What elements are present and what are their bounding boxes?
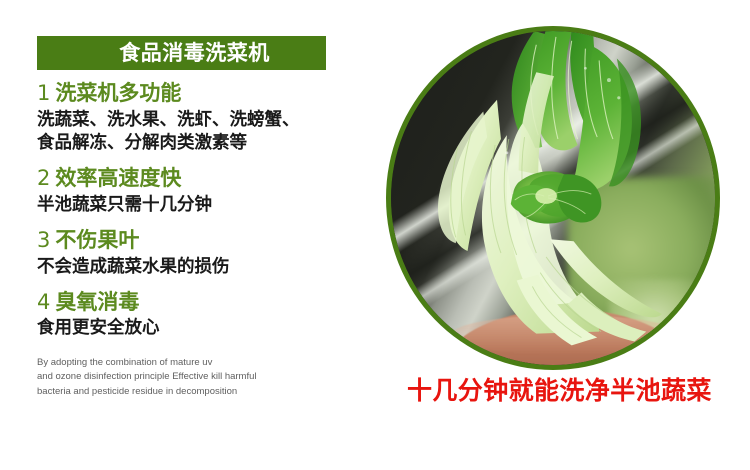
- feature-heading: 4臭氧消毒: [37, 290, 337, 315]
- feature-body: 半池蔬菜只需十几分钟: [37, 194, 337, 217]
- feature-heading: 1洗菜机多功能: [37, 81, 337, 106]
- feature-body: 洗蔬菜、洗水果、洗虾、洗螃蟹、 食品解冻、分解肉类激素等: [37, 109, 337, 155]
- feature-heading-label: 臭氧消毒: [55, 290, 139, 314]
- feature-body: 不会造成蔬菜水果的损伤: [37, 256, 337, 279]
- feature-heading-label: 不伤果叶: [55, 228, 139, 252]
- feature-body-line: 食品解冻、分解肉类激素等: [37, 132, 337, 155]
- feature-body-line: 食用更安全放心: [37, 317, 337, 340]
- feature-text-column: 食品消毒洗菜机 1洗菜机多功能 洗蔬菜、洗水果、洗虾、洗螃蟹、 食品解冻、分解肉…: [37, 36, 337, 400]
- feature-number: 3: [37, 228, 50, 252]
- feature-item: 2效率高速度快 半池蔬菜只需十几分钟: [37, 166, 337, 217]
- feature-body-line: 洗蔬菜、洗水果、洗虾、洗螃蟹、: [37, 109, 337, 132]
- photo-circle-frame: [386, 26, 720, 370]
- bok-choy: [391, 31, 715, 365]
- feature-heading: 2效率高速度快: [37, 166, 337, 191]
- feature-body-line: 不会造成蔬菜水果的损伤: [37, 256, 337, 279]
- feature-number: 1: [37, 81, 50, 105]
- feature-heading-label: 效率高速度快: [55, 166, 181, 190]
- title-banner: 食品消毒洗菜机: [37, 36, 326, 70]
- photo-clip: [391, 31, 715, 365]
- feature-body: 食用更安全放心: [37, 317, 337, 340]
- photo-scene: [391, 31, 715, 365]
- product-feature-poster: 食品消毒洗菜机 1洗菜机多功能 洗蔬菜、洗水果、洗虾、洗螃蟹、 食品解冻、分解肉…: [0, 0, 750, 470]
- english-description: By adopting the combination of mature uv…: [37, 356, 337, 400]
- feature-heading-label: 洗菜机多功能: [55, 81, 181, 105]
- feature-heading: 3不伤果叶: [37, 228, 337, 253]
- feature-number: 4: [37, 290, 50, 314]
- english-description-line: bacteria and pesticide residue in decomp…: [37, 385, 337, 400]
- english-description-line: By adopting the combination of mature uv: [37, 356, 337, 371]
- english-description-line: and ozone disinfection principle Effecti…: [37, 370, 337, 385]
- feature-item: 3不伤果叶 不会造成蔬菜水果的损伤: [37, 228, 337, 279]
- feature-body-line: 半池蔬菜只需十几分钟: [37, 194, 337, 217]
- photo-caption: 十几分钟就能洗净半池蔬菜: [407, 378, 707, 403]
- product-photo: [386, 26, 720, 370]
- feature-number: 2: [37, 166, 50, 190]
- page-title: 食品消毒洗菜机: [119, 43, 270, 64]
- feature-item: 1洗菜机多功能 洗蔬菜、洗水果、洗虾、洗螃蟹、 食品解冻、分解肉类激素等: [37, 81, 337, 155]
- feature-item: 4臭氧消毒 食用更安全放心: [37, 290, 337, 341]
